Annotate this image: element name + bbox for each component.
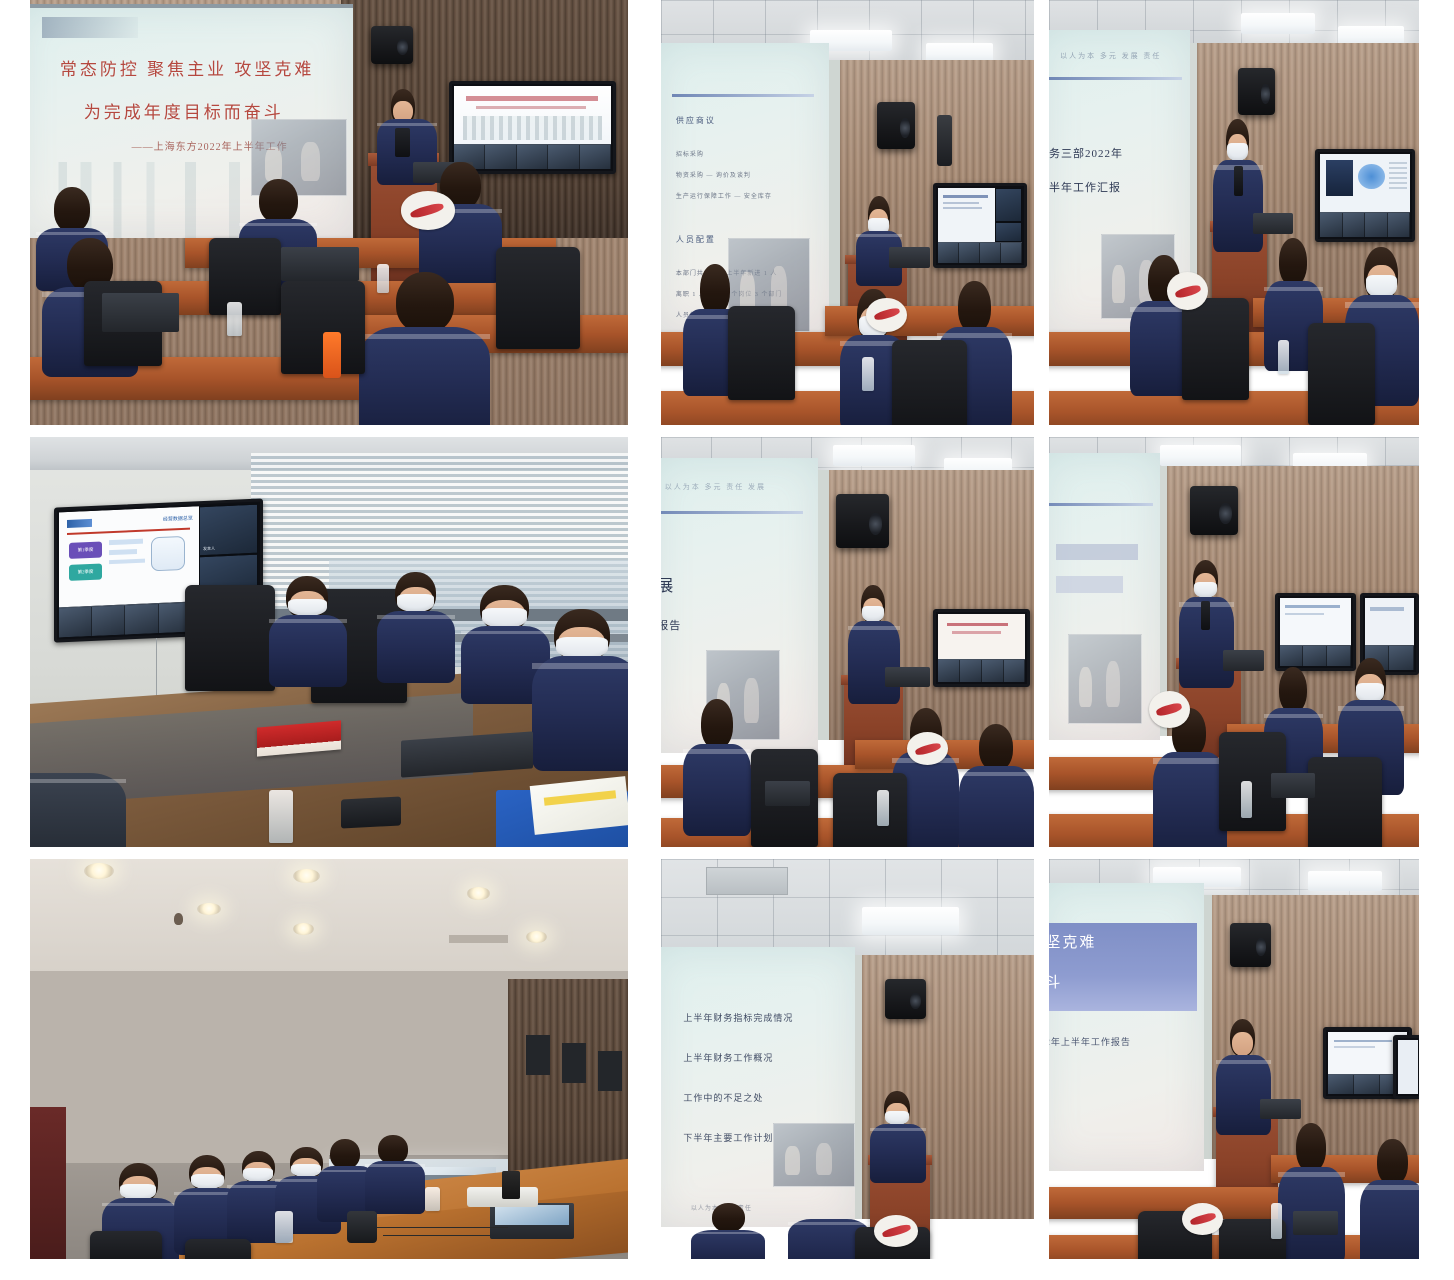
photo-collage: 常态防控 聚焦主业 攻坚克难 为完成年度目标而奋斗 ——上海东方2022年上半年… [0,0,1454,1280]
orange-thermos [323,332,341,379]
chair-logo [866,298,907,332]
chair-logo [1167,272,1208,310]
agenda-bullet-3: 工作中的不足之处 [683,1091,763,1104]
chair-logo [907,732,948,765]
slide-body-2: 物资采购 — 询价及谈判 [676,170,751,179]
wall-tv [1315,149,1415,243]
ceiling-speaker-icon [371,26,413,64]
sprinkler-icon [174,913,184,925]
panel-2-scene: 供应商议 招标采购 物资采购 — 询价及谈判 生产运行保障工作 — 安全库存 人… [661,0,1034,425]
microphone [395,128,410,158]
agenda-bullet-4: 下半年主要工作计划 [683,1131,773,1144]
wall-tv [933,609,1030,687]
chair-logo [401,191,455,229]
speakerphone [341,796,401,828]
microphone [1201,601,1210,630]
panel-1-scene: 常态防控 聚焦主业 攻坚克难 为完成年度目标而奋斗 ——上海东方2022年上半年… [30,0,628,425]
vc-tile-speaker: 发言人 [198,503,258,556]
water-bottle [269,790,293,843]
slide-line-1: 坚克难 [1049,931,1096,952]
ceiling-projector [1190,486,1238,535]
second-monitor [1393,1035,1419,1099]
slide-body-1: 招标采购 [676,149,704,158]
agenda-bullet-1: 上半年财务指标完成情况 [683,1011,793,1024]
collage-photo-8[interactable]: 上半年财务指标完成情况 上半年财务工作概况 工作中的不足之处 下半年主要工作计划… [661,859,1034,1259]
slide-line-1: 常态防控 聚焦主业 攻坚克难 [60,55,315,80]
ceiling-projector [836,494,888,547]
slide-line-2: 半年工作汇报 [1049,179,1121,195]
collage-photo-4[interactable]: 经营数据总览 第1季度 第2季度 发言人 会场 [30,437,628,847]
vc-badge-1: 第1季度 [69,541,102,558]
thermos [502,1171,520,1199]
door[interactable] [30,1107,66,1259]
chair-logo [874,1215,919,1247]
panel-9-scene: 坚克难 斗 2年上半年工作报告 [1049,859,1419,1259]
slide-heading-1: 供应商议 [676,115,716,126]
ceiling-speaker-icon [1238,68,1275,115]
panel-8-scene: 上半年财务指标完成情况 上半年财务工作概况 工作中的不足之处 下半年主要工作计划… [661,859,1034,1259]
wall-tv [449,81,616,175]
panel-4-scene: 经营数据总览 第1季度 第2季度 发言人 会场 [30,437,628,847]
vc-tile-label-1: 发言人 [203,545,215,552]
slide-line-2: 报告 [661,617,681,633]
slide-line-1: 展 [661,572,674,596]
seated-speaker [870,1091,926,1179]
conference-microphone [347,1211,377,1243]
panel-7-scene [30,859,628,1259]
collage-photo-5[interactable]: 以人为本 多元 责任 发展 展 报告 [661,437,1034,847]
slide-heading-2: 人员配置 [676,234,716,245]
slide-line-1: 务三部2022年 [1049,145,1123,161]
camera-mount [937,115,952,166]
slide-heading-faint: 以人为本 多元 责任 发展 [665,482,766,492]
collage-photo-6[interactable] [1049,437,1419,847]
slide-body-3: 生产运行保障工作 — 安全库存 [676,191,772,200]
ceiling-vent [449,935,509,943]
ceiling-panel-light [862,907,959,935]
ceiling-speaker-icon [877,102,914,149]
chair-logo [1149,691,1190,728]
panel-5-scene: 以人为本 多元 责任 发展 展 报告 [661,437,1034,847]
ceiling-speaker-icon [1230,923,1271,967]
ceiling-vent [706,867,788,895]
collage-photo-3[interactable]: 以人为本 多元 发展 责任 务三部2022年 半年工作汇报 [1049,0,1419,425]
vc-slide-title: 经营数据总览 [163,514,193,522]
collage-photo-1[interactable]: 常态防控 聚焦主业 攻坚克难 为完成年度目标而奋斗 ——上海东方2022年上半年… [30,0,628,425]
chair-logo [1182,1203,1223,1235]
agenda-bullet-2: 上半年财务工作概况 [683,1051,773,1064]
presenter [855,196,903,281]
slide-heading-faint: 以人为本 多元 发展 责任 [1060,51,1161,61]
collage-photo-2[interactable]: 供应商议 招标采购 物资采购 — 询价及谈判 生产运行保障工作 — 安全库存 人… [661,0,1034,425]
panel-3-scene: 以人为本 多元 发展 责任 务三部2022年 半年工作汇报 [1049,0,1419,425]
slide-line-3: 2年上半年工作报告 [1049,1035,1131,1048]
collage-photo-9[interactable]: 坚克难 斗 2年上半年工作报告 [1049,859,1419,1259]
slide-line-2: 斗 [1049,971,1062,992]
microphone [1234,166,1243,196]
panel-6-scene [1049,437,1419,847]
vc-badge-2: 第2季度 [69,563,102,580]
ceiling-speaker-icon [885,979,926,1019]
laptop [490,1203,574,1239]
wall-tv [933,183,1026,268]
collage-photo-7[interactable] [30,859,628,1259]
